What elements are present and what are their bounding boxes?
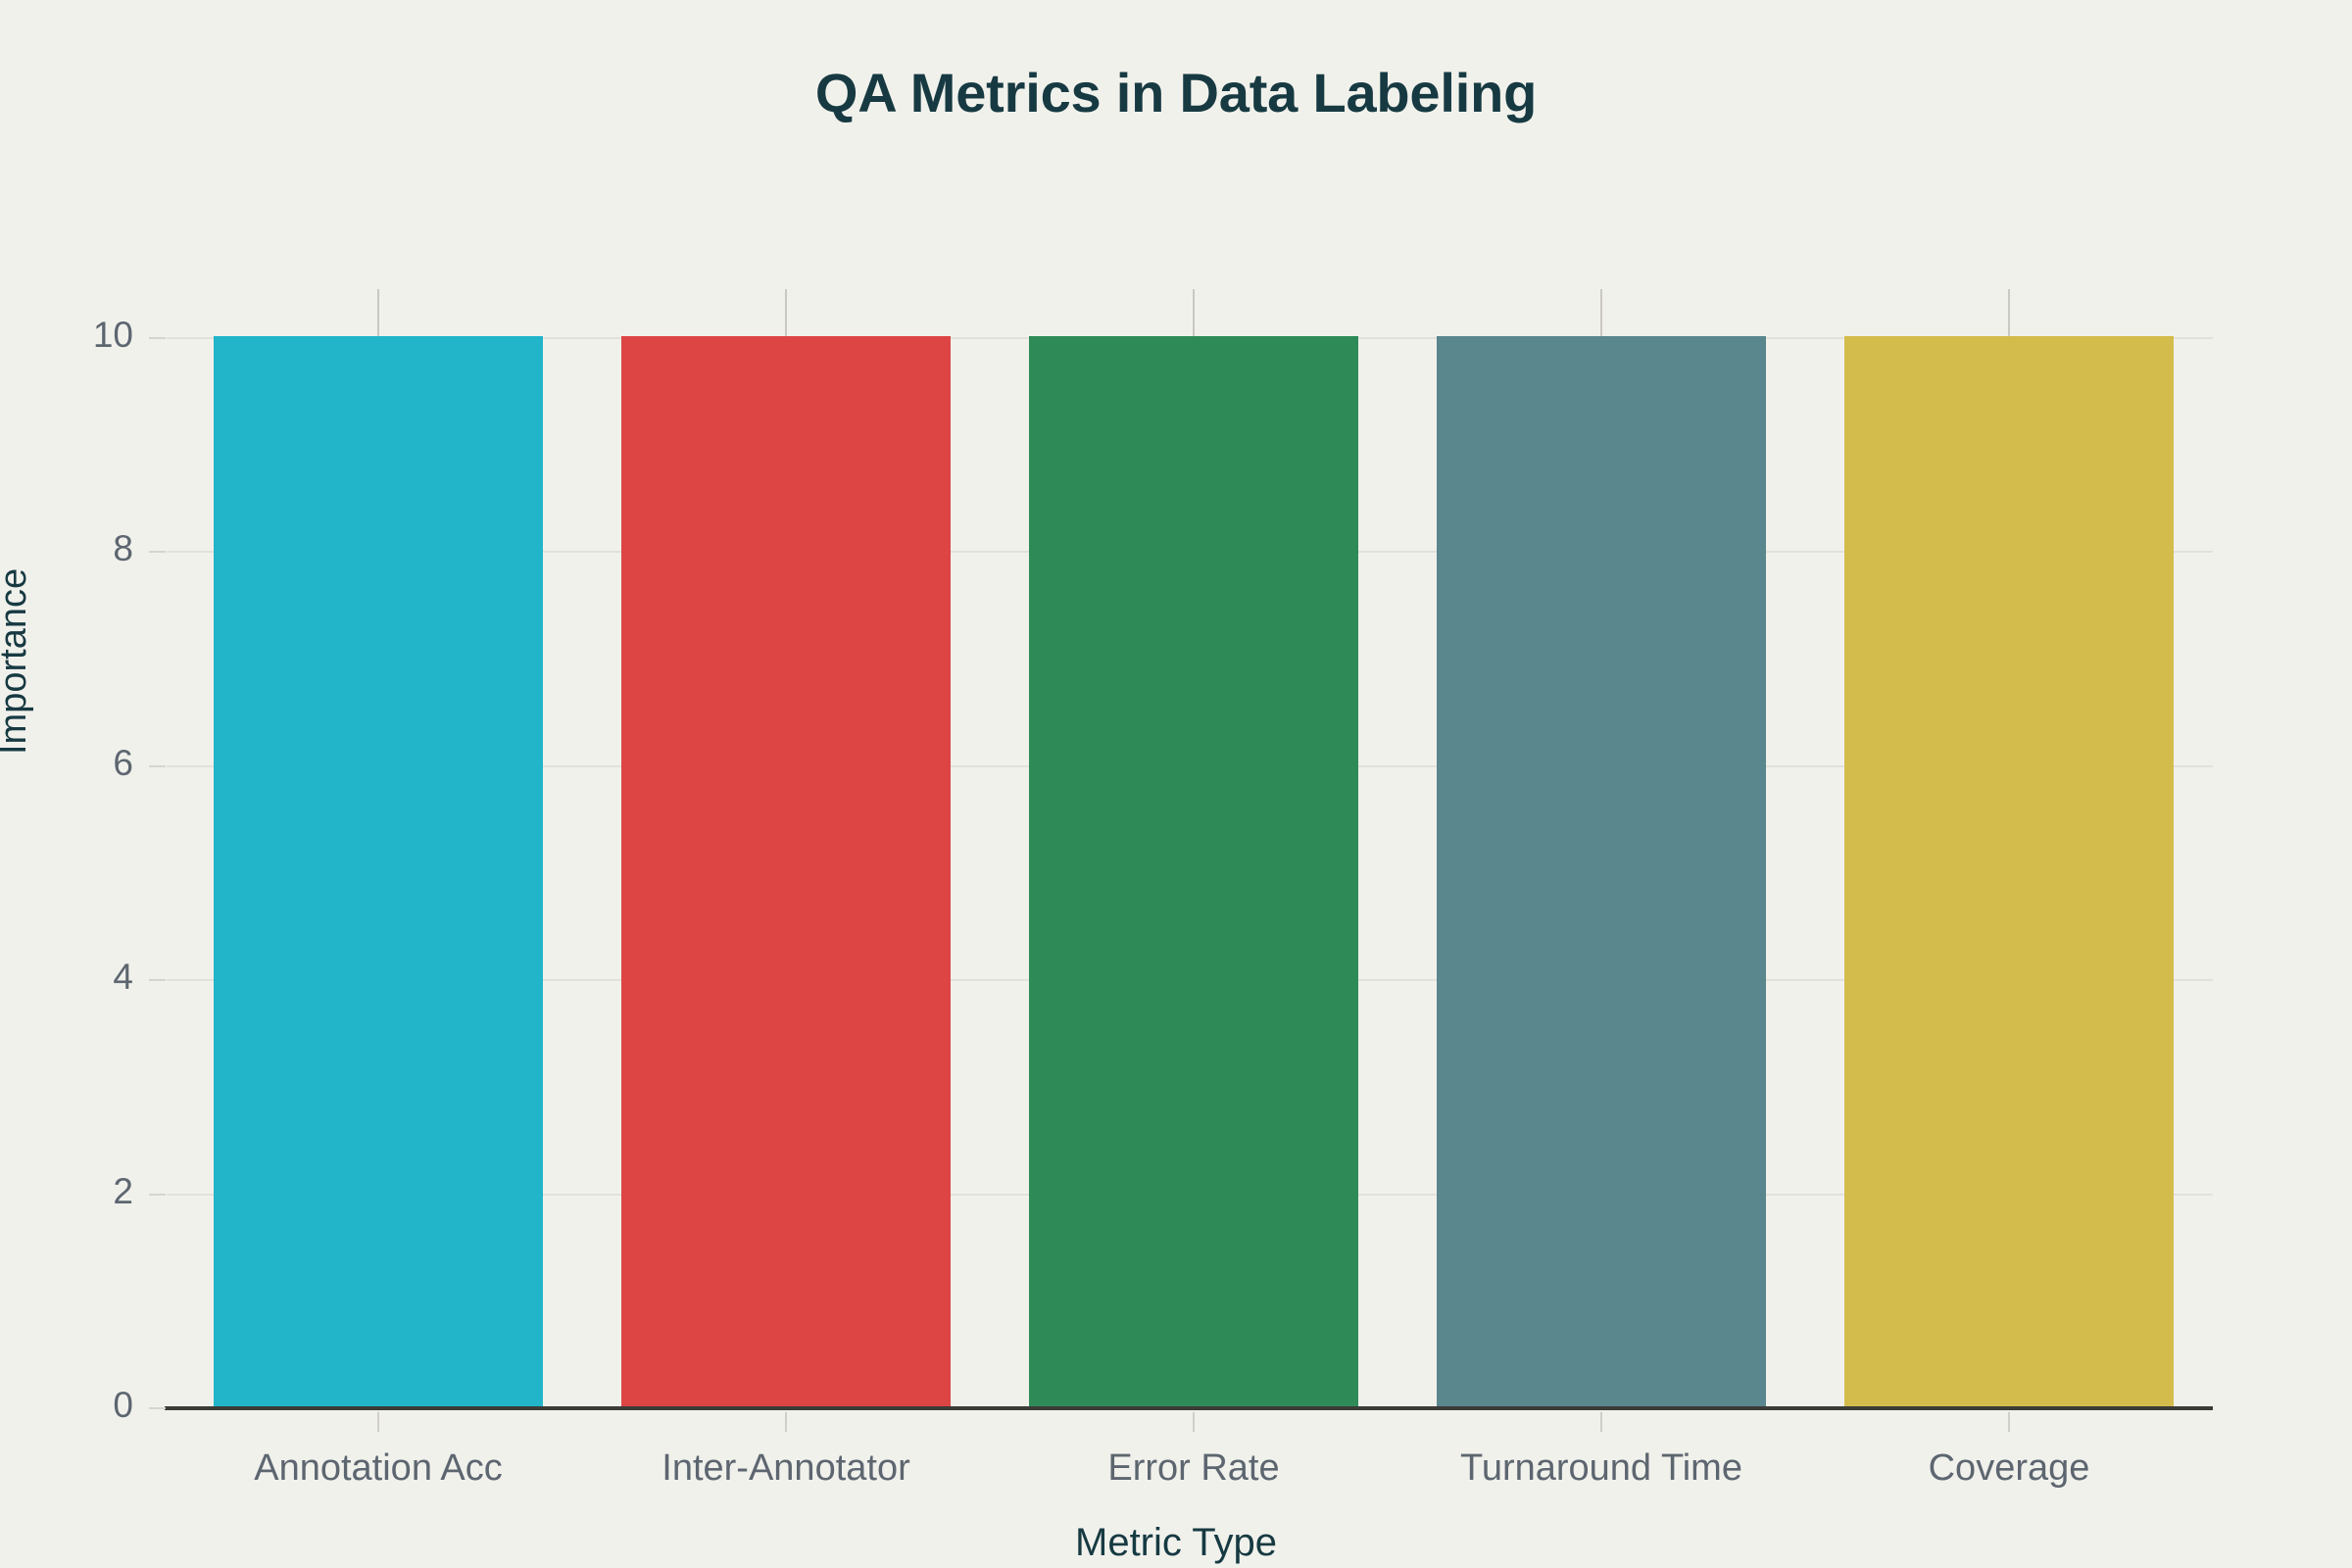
gridline-x-3	[1600, 289, 1602, 338]
gridline-x-1	[785, 289, 787, 338]
x-tick-mark	[1600, 1412, 1602, 1432]
x-tick-label: Annotation Acc	[254, 1447, 503, 1490]
y-tick-mark	[149, 1407, 166, 1409]
x-tick-mark	[1193, 1412, 1195, 1432]
y-tick-mark	[149, 551, 166, 553]
y-tick-label: 2	[0, 1171, 133, 1212]
y-tick-label: 0	[0, 1385, 133, 1426]
y-axis-title: Importance	[0, 568, 35, 755]
x-axis-title: Metric Type	[0, 1521, 2352, 1565]
y-tick-label: 10	[0, 315, 133, 356]
x-tick-label: Inter-Annotator	[661, 1447, 909, 1490]
bar[interactable]	[1844, 336, 2174, 1406]
bar[interactable]	[214, 336, 543, 1406]
x-tick-label: Error Rate	[1107, 1447, 1279, 1490]
gridline-x-0	[377, 289, 379, 338]
y-tick-label: 4	[0, 956, 133, 998]
y-tick-mark	[149, 979, 166, 981]
y-tick-label: 6	[0, 743, 133, 784]
y-tick-label: 8	[0, 528, 133, 569]
plot-area	[174, 235, 2213, 1408]
bar-chart: QA Metrics in Data Labeling Importance M…	[0, 0, 2352, 1568]
gridline-x-2	[1193, 289, 1195, 338]
y-tick-mark	[149, 337, 166, 339]
bar[interactable]	[1029, 336, 1358, 1406]
x-tick-mark	[377, 1412, 379, 1432]
x-tick-label: Turnaround Time	[1460, 1447, 1742, 1490]
y-tick-mark	[149, 1194, 166, 1196]
x-tick-label: Coverage	[1929, 1447, 2090, 1490]
chart-title: QA Metrics in Data Labeling	[0, 61, 2352, 124]
y-tick-mark	[149, 765, 166, 767]
gridline-x-4	[2008, 289, 2010, 338]
bar[interactable]	[1437, 336, 1766, 1406]
x-axis-line	[165, 1406, 2213, 1410]
bar[interactable]	[621, 336, 951, 1406]
x-tick-mark	[785, 1412, 787, 1432]
x-tick-mark	[2008, 1412, 2010, 1432]
